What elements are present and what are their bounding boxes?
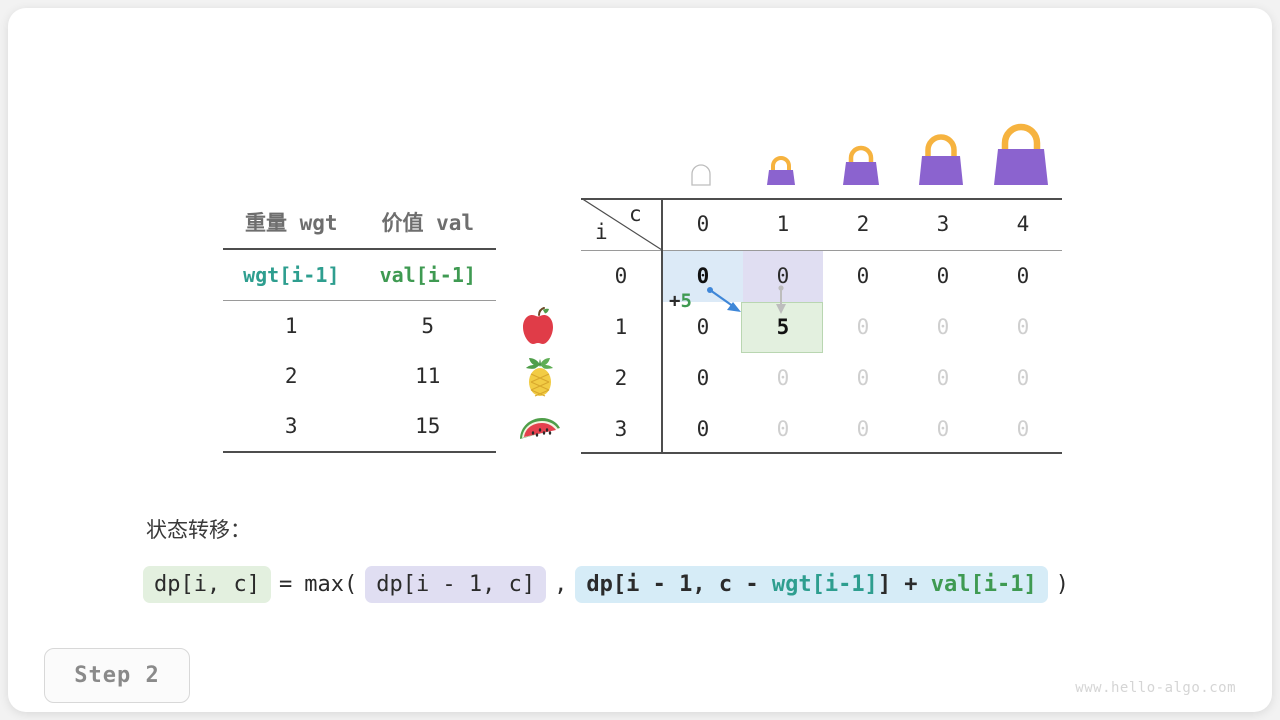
items-header-val: 价值 val — [360, 198, 497, 248]
slide-card: 重量 wgt 价值 val wgt[i-1] val[i-1] 1 5 2 11… — [8, 8, 1272, 712]
dp-cell-2-4: 0 — [983, 353, 1063, 403]
formula-comma: , — [548, 572, 573, 597]
corner-label-i: i — [595, 220, 608, 244]
formula-option-take: dp[i - 1, c - wgt[i-1]] + val[i-1] — [575, 566, 1047, 603]
dp-col-header-1: 1 — [743, 203, 823, 245]
bag-size1-icon — [760, 148, 802, 186]
dp-cell-3-1: 0 — [743, 404, 823, 454]
formula-close-paren: ) — [1050, 572, 1075, 597]
watermark: www.hello-algo.com — [1075, 680, 1236, 696]
dp-cell-1-4: 0 — [983, 302, 1063, 352]
item-val-1: 5 — [360, 301, 497, 351]
corner-label-c: c — [629, 202, 642, 226]
state-transition-label: 状态转移： — [146, 514, 251, 544]
dp-cell-2-1: 0 — [743, 353, 823, 403]
items-subheader-wgt: wgt[i-1] — [223, 250, 360, 300]
dp-cell-3-2: 0 — [823, 404, 903, 454]
bag-empty-icon — [684, 160, 718, 186]
items-table: 重量 wgt 价值 val wgt[i-1] val[i-1] 1 5 2 11… — [223, 198, 496, 453]
dp-cell-0-2: 0 — [823, 251, 903, 301]
watermelon-icon — [516, 405, 562, 451]
pineapple-icon — [516, 353, 562, 399]
dp-col-header-2: 2 — [823, 203, 903, 245]
dp-cell-2-0: 0 — [663, 353, 743, 403]
dp-cell-3-0: 0 — [663, 404, 743, 454]
dp-cell-1-3: 0 — [903, 302, 983, 352]
bag-size4-icon — [987, 118, 1055, 186]
dp-col-header-0: 0 — [663, 203, 743, 245]
dp-cell-3-4: 0 — [983, 404, 1063, 454]
plus-amount: 5 — [680, 290, 691, 312]
bag-size2-icon — [837, 138, 885, 186]
formula-option-take-mid: ] + — [878, 572, 931, 597]
item-val-2: 11 — [360, 351, 497, 401]
bag-size3-icon — [912, 128, 970, 186]
formula-val-term: val[i-1] — [931, 572, 1037, 597]
dp-row-header-1: 1 — [581, 302, 661, 352]
dp-row-header-2: 2 — [581, 353, 661, 403]
items-subheader-row: wgt[i-1] val[i-1] — [223, 250, 496, 300]
item-val-3: 15 — [360, 401, 497, 451]
item-wgt-3: 3 — [223, 401, 360, 451]
dp-cell-1-2: 0 — [823, 302, 903, 352]
item-wgt-2: 2 — [223, 351, 360, 401]
items-header-row: 重量 wgt 价值 val — [223, 198, 496, 248]
formula-wgt-term: wgt[i-1] — [772, 572, 878, 597]
table-row: 2 11 — [223, 351, 496, 401]
dp-col-header-4: 4 — [983, 203, 1063, 245]
formula-option-take-prefix: dp[i - 1, c - — [586, 572, 771, 597]
items-header-wgt: 重量 wgt — [223, 198, 360, 248]
formula-max-open: max( — [298, 572, 363, 597]
item-wgt-1: 1 — [223, 301, 360, 351]
dp-cell-2-2: 0 — [823, 353, 903, 403]
items-subheader-val: val[i-1] — [360, 250, 497, 300]
apple-icon — [516, 302, 562, 348]
state-transition-formula: dp[i, c] = max( dp[i - 1, c] , dp[i - 1,… — [141, 566, 1075, 603]
dp-cell-0-3: 0 — [903, 251, 983, 301]
dp-cell-3-3: 0 — [903, 404, 983, 454]
formula-equals: = — [273, 572, 298, 597]
table-row: 3 15 — [223, 401, 496, 451]
corner-diagonal-icon — [581, 198, 663, 251]
plus-sign: + — [669, 290, 680, 312]
step-button[interactable]: Step 2 — [44, 648, 190, 703]
plus-value-annotation: +5 — [669, 290, 692, 312]
dp-col-header-3: 3 — [903, 203, 983, 245]
formula-option-skip: dp[i - 1, c] — [365, 566, 546, 603]
dp-cell-0-4: 0 — [983, 251, 1063, 301]
dp-cell-2-3: 0 — [903, 353, 983, 403]
items-divider-bottom — [223, 451, 496, 453]
formula-target: dp[i, c] — [143, 566, 271, 603]
dp-row-header-3: 3 — [581, 404, 661, 454]
table-row: 1 5 — [223, 301, 496, 351]
dp-row-header-0: 0 — [581, 251, 661, 301]
dp-table: c i 0 1 2 3 4 0 1 2 3 0 0 0 0 0 0 5 0 0 … — [581, 198, 1062, 454]
